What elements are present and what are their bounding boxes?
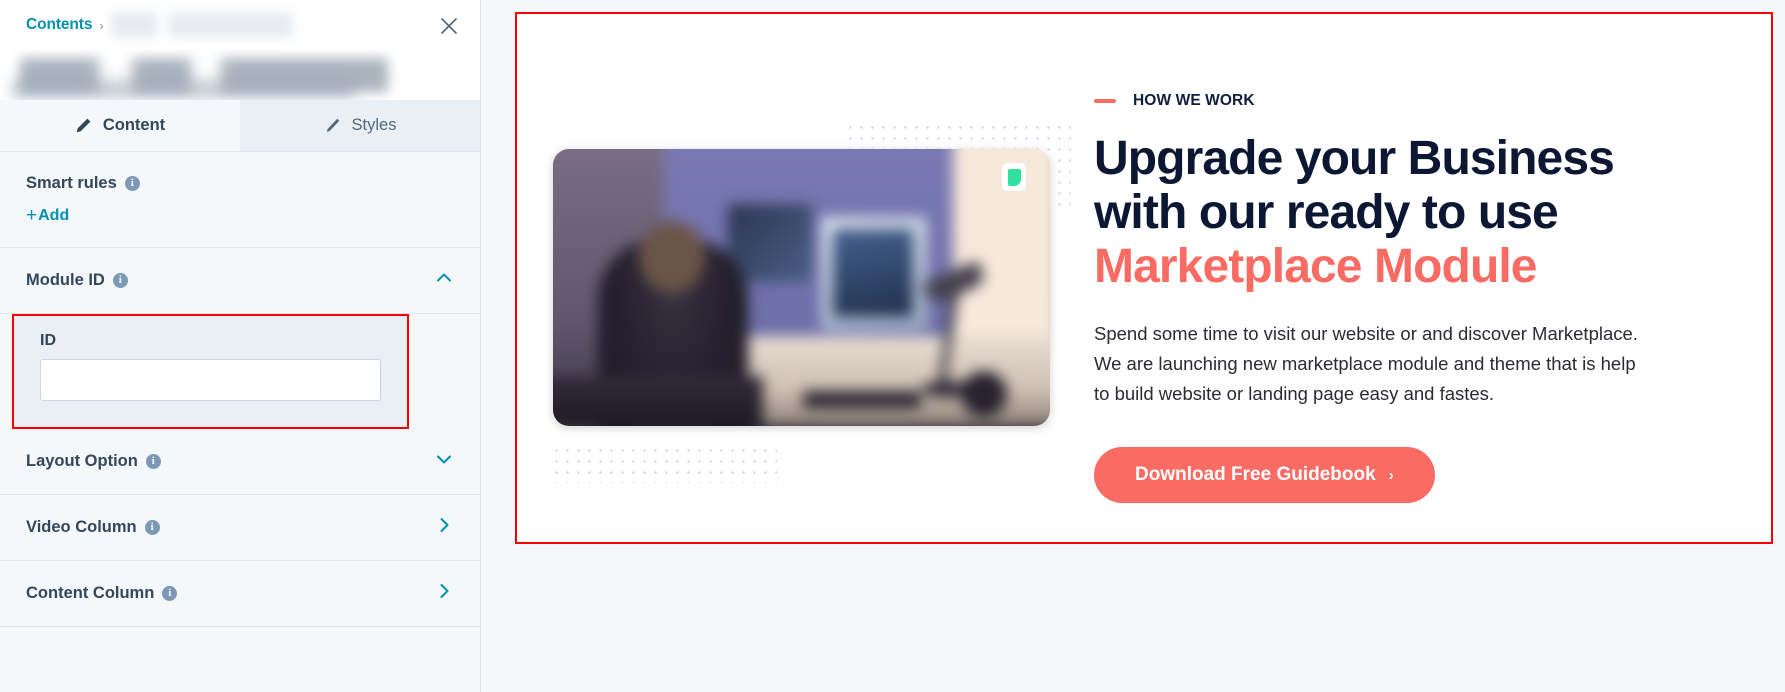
chevron-down-icon[interactable] xyxy=(434,449,454,474)
layout-option-label: Layout Option xyxy=(26,452,138,471)
breadcrumb-current-blurred xyxy=(111,12,293,38)
id-field-label: ID xyxy=(40,332,381,350)
editor-sidebar: Contents › Content xyxy=(0,0,481,692)
module-id-highlight-box: ID xyxy=(12,314,409,429)
add-smart-rule-label: Add xyxy=(38,207,69,225)
dash-icon xyxy=(1094,99,1116,103)
section-header-module-id[interactable]: Module ID i xyxy=(0,248,480,314)
headline-accent: Marketplace Module xyxy=(1094,240,1537,293)
info-icon[interactable]: i xyxy=(162,586,177,601)
tab-content[interactable]: Content xyxy=(0,100,240,152)
smart-rules-section: Smart rules i + Add xyxy=(0,152,480,248)
id-input[interactable] xyxy=(40,359,381,401)
breadcrumb: Contents › xyxy=(26,12,293,38)
marketing-module: HOW WE WORK Upgrade your Business with o… xyxy=(517,14,1771,542)
headline-line-2: with our ready to use xyxy=(1094,186,1558,239)
module-id-label: Module ID xyxy=(26,271,105,290)
smart-rules-title: Smart rules i xyxy=(26,174,454,193)
chevron-right-icon[interactable] xyxy=(434,515,454,540)
plus-icon: + xyxy=(26,205,37,227)
dot-pattern-bottom-left xyxy=(551,445,777,483)
sidebar-header: Contents › xyxy=(0,0,480,50)
info-icon[interactable]: i xyxy=(146,454,161,469)
chevron-right-icon: › xyxy=(1389,467,1394,484)
chevron-up-icon[interactable] xyxy=(434,268,454,293)
module-title-blur-line2 xyxy=(12,80,355,98)
section-header-content-column[interactable]: Content Column i xyxy=(0,561,480,627)
smart-rules-label: Smart rules xyxy=(26,174,117,193)
section-header-video-column[interactable]: Video Column i xyxy=(0,495,480,561)
brush-icon xyxy=(324,117,341,134)
info-icon[interactable]: i xyxy=(145,520,160,535)
info-icon[interactable]: i xyxy=(125,176,140,191)
breadcrumb-separator: › xyxy=(99,18,103,33)
cta-label: Download Free Guidebook xyxy=(1135,464,1376,486)
video-column xyxy=(517,14,1082,542)
layout-option-title: Layout Option i xyxy=(26,452,161,471)
content-column-title: Content Column i xyxy=(26,584,177,603)
video-badge-icon xyxy=(1002,163,1026,191)
eyebrow: HOW WE WORK xyxy=(1094,92,1719,110)
content-column: HOW WE WORK Upgrade your Business with o… xyxy=(1082,14,1771,542)
chevron-right-icon[interactable] xyxy=(434,581,454,606)
video-column-title: Video Column i xyxy=(26,518,160,537)
module-body-text: Spend some time to visit our website or … xyxy=(1094,319,1639,409)
video-thumbnail[interactable] xyxy=(553,149,1050,426)
preview-area: HOW WE WORK Upgrade your Business with o… xyxy=(481,0,1785,692)
video-column-label: Video Column xyxy=(26,518,137,537)
module-id-title: Module ID i xyxy=(26,271,128,290)
tab-content-label: Content xyxy=(103,116,165,135)
module-preview-highlight-box: HOW WE WORK Upgrade your Business with o… xyxy=(515,12,1773,544)
eyebrow-label: HOW WE WORK xyxy=(1133,92,1255,110)
close-icon[interactable] xyxy=(436,13,462,39)
pencil-icon xyxy=(75,117,92,134)
breadcrumb-contents-link[interactable]: Contents xyxy=(26,16,92,34)
add-smart-rule-button[interactable]: + Add xyxy=(26,205,69,227)
module-headline: Upgrade your Business with our ready to … xyxy=(1094,132,1719,293)
tab-styles-label: Styles xyxy=(352,116,397,135)
headline-line-1: Upgrade your Business xyxy=(1094,132,1614,185)
module-id-section: Module ID i ID xyxy=(0,248,480,429)
section-header-layout-option[interactable]: Layout Option i xyxy=(0,429,480,495)
sidebar-tabs: Content Styles xyxy=(0,100,480,152)
sidebar-module-title-blurred xyxy=(0,50,480,100)
content-column-label: Content Column xyxy=(26,584,154,603)
download-guidebook-button[interactable]: Download Free Guidebook › xyxy=(1094,447,1435,503)
info-icon[interactable]: i xyxy=(113,273,128,288)
video-thumbnail-image xyxy=(553,149,1050,426)
tab-styles[interactable]: Styles xyxy=(240,100,480,152)
